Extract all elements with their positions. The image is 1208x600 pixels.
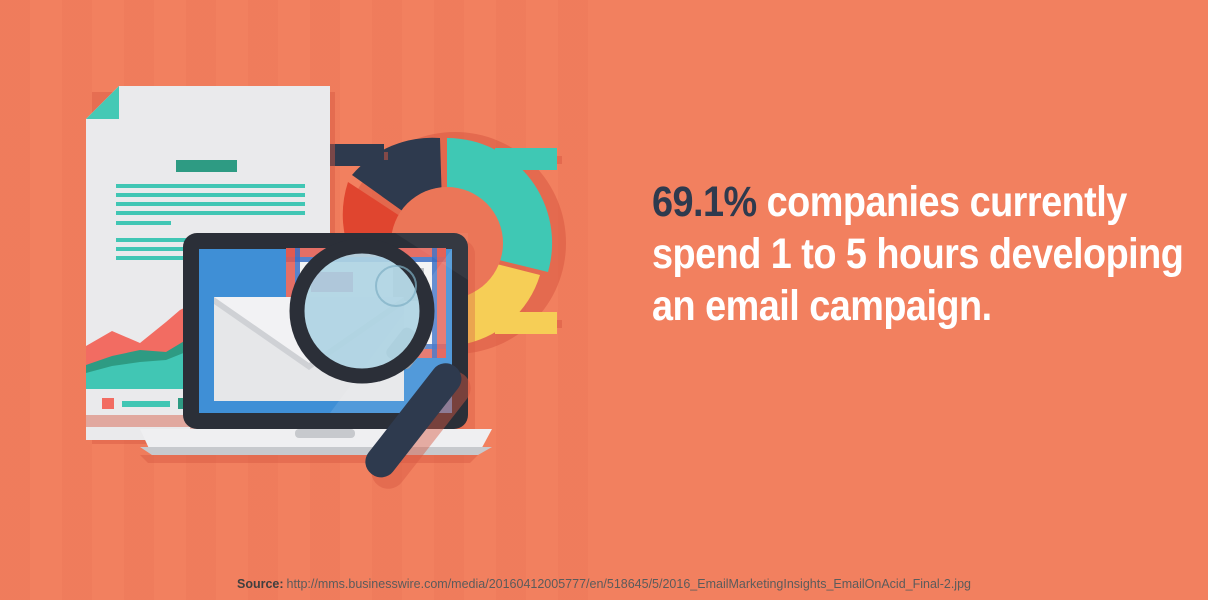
headline: 69.1% companies currently spend 1 to 5 h… — [652, 176, 1172, 332]
document-text-line — [116, 193, 305, 197]
headline-line-2: spend 1 to 5 hours developing — [652, 228, 1110, 280]
document-text-line — [116, 221, 171, 225]
laptop-trackpad-notch — [295, 429, 355, 438]
legend-swatch-red — [102, 398, 114, 409]
legend-bar-yellow — [495, 312, 557, 334]
document-fold-corner — [86, 86, 119, 119]
area-chart-card — [86, 290, 200, 427]
document-text-line — [116, 184, 305, 188]
document-text-line — [116, 211, 305, 215]
headline-line-1: 69.1% companies currently — [652, 176, 1110, 228]
headline-line-1-rest: companies currently — [757, 178, 1127, 226]
document-title-bar — [176, 160, 237, 172]
headline-line-3: an email campaign. — [652, 280, 1110, 332]
area-chart-axis — [86, 385, 200, 389]
email-marketing-illustration — [0, 0, 612, 600]
source-text: Source:http://mms.businesswire.com/media… — [237, 577, 971, 591]
legend-bar-teal — [495, 148, 557, 170]
source-label: Source: — [237, 577, 284, 591]
headline-percent: 69.1% — [652, 178, 757, 226]
laptop-base-edge — [140, 447, 492, 455]
infographic-canvas: 69.1% companies currently spend 1 to 5 h… — [0, 0, 1208, 600]
source-bar: Source:http://mms.businesswire.com/media… — [0, 568, 1208, 600]
legend-swatch-teal — [122, 401, 170, 407]
source-url: http://mms.businesswire.com/media/201604… — [287, 577, 971, 591]
document-text-line — [116, 202, 305, 206]
